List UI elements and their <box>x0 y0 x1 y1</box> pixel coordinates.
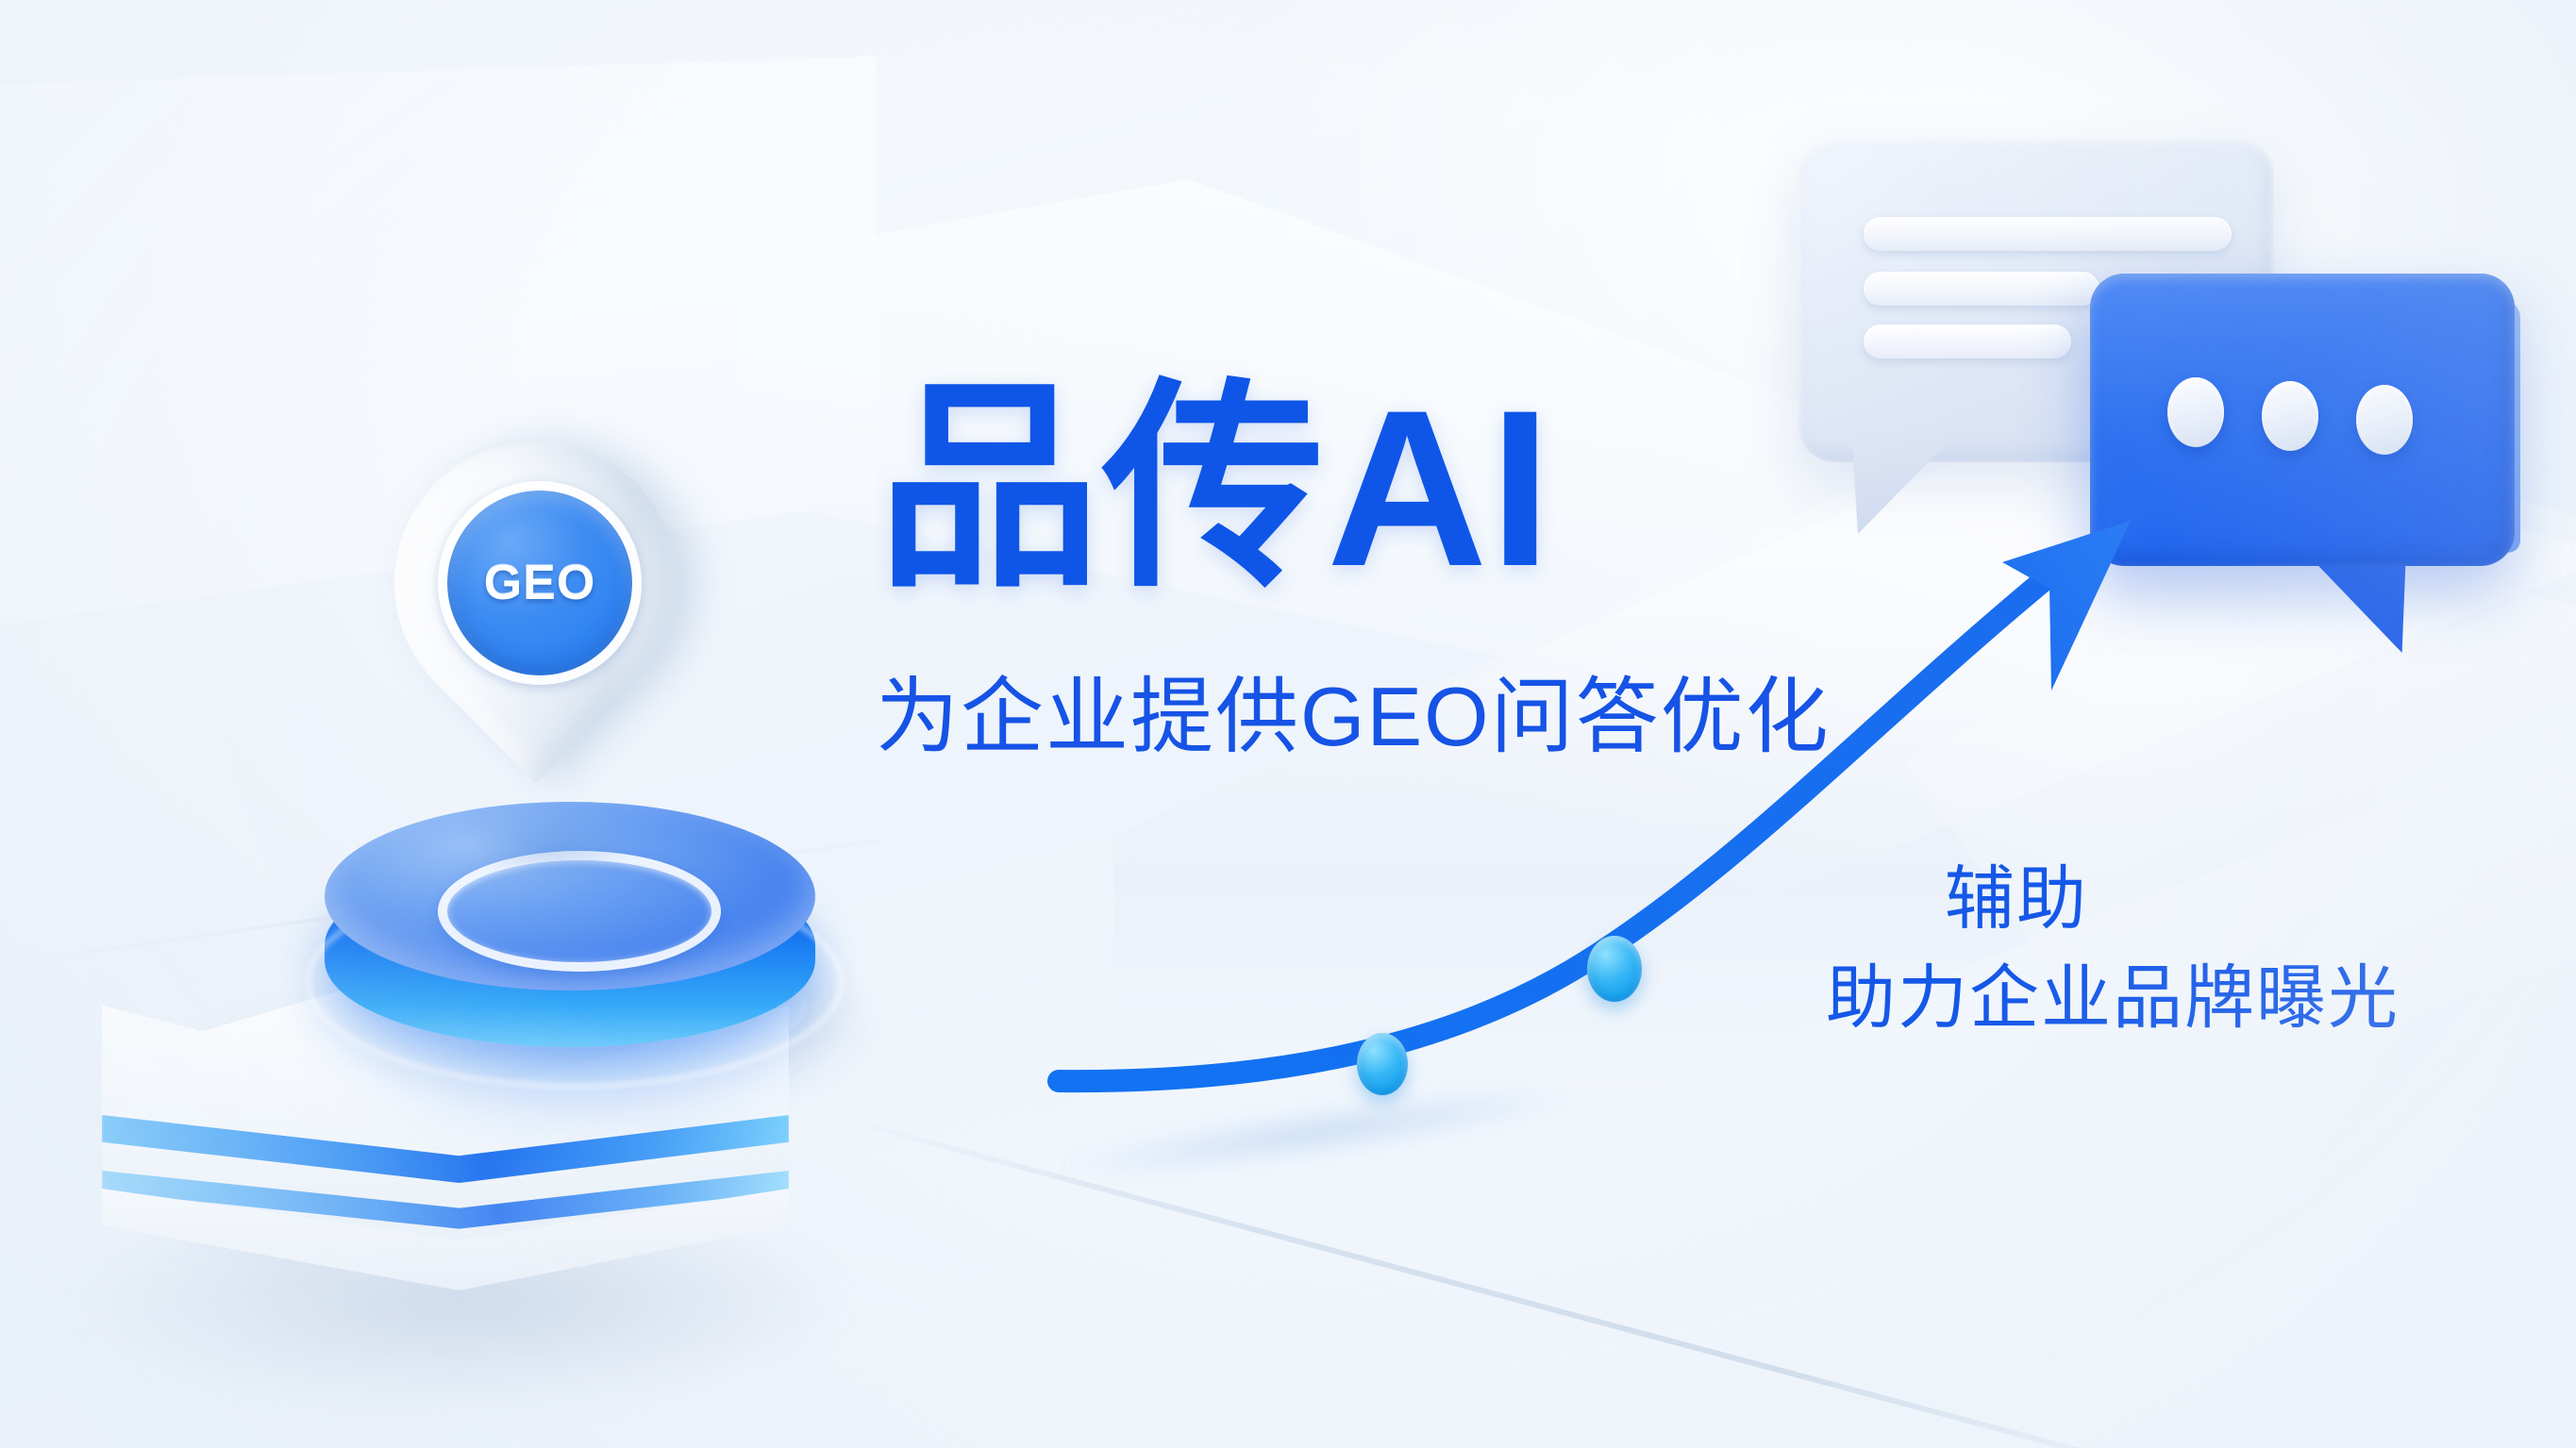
typing-dot-3 <box>2356 385 2413 455</box>
pin-shadow <box>453 811 642 877</box>
hero-banner: GEO 品传AI 为企业提供GEO问答优化 辅助 <box>0 0 2576 1448</box>
floor-edge-line <box>829 1113 2198 1448</box>
growth-node-2 <box>1587 936 1642 1002</box>
side-caption: 辅助 助力企业品牌曝光 <box>1826 849 2400 1047</box>
chat-bubble-line-3 <box>1864 325 2071 358</box>
page-subtitle: 为企业提供GEO问答优化 <box>876 672 1831 763</box>
growth-node-1 <box>1357 1033 1408 1095</box>
typing-dot-1 <box>2167 377 2224 447</box>
side-caption-line-1: 辅助 <box>1945 849 2400 948</box>
typing-dot-2 <box>2262 381 2318 451</box>
pin-label: GEO <box>447 491 632 675</box>
side-caption-line-2: 助力企业品牌曝光 <box>1826 948 2400 1047</box>
chat-bubble-line-1 <box>1864 217 2232 251</box>
page-title: 品传AI <box>878 377 1553 600</box>
map-pin-icon: GEO <box>394 441 706 923</box>
chat-bubble-line-2 <box>1864 272 2099 306</box>
